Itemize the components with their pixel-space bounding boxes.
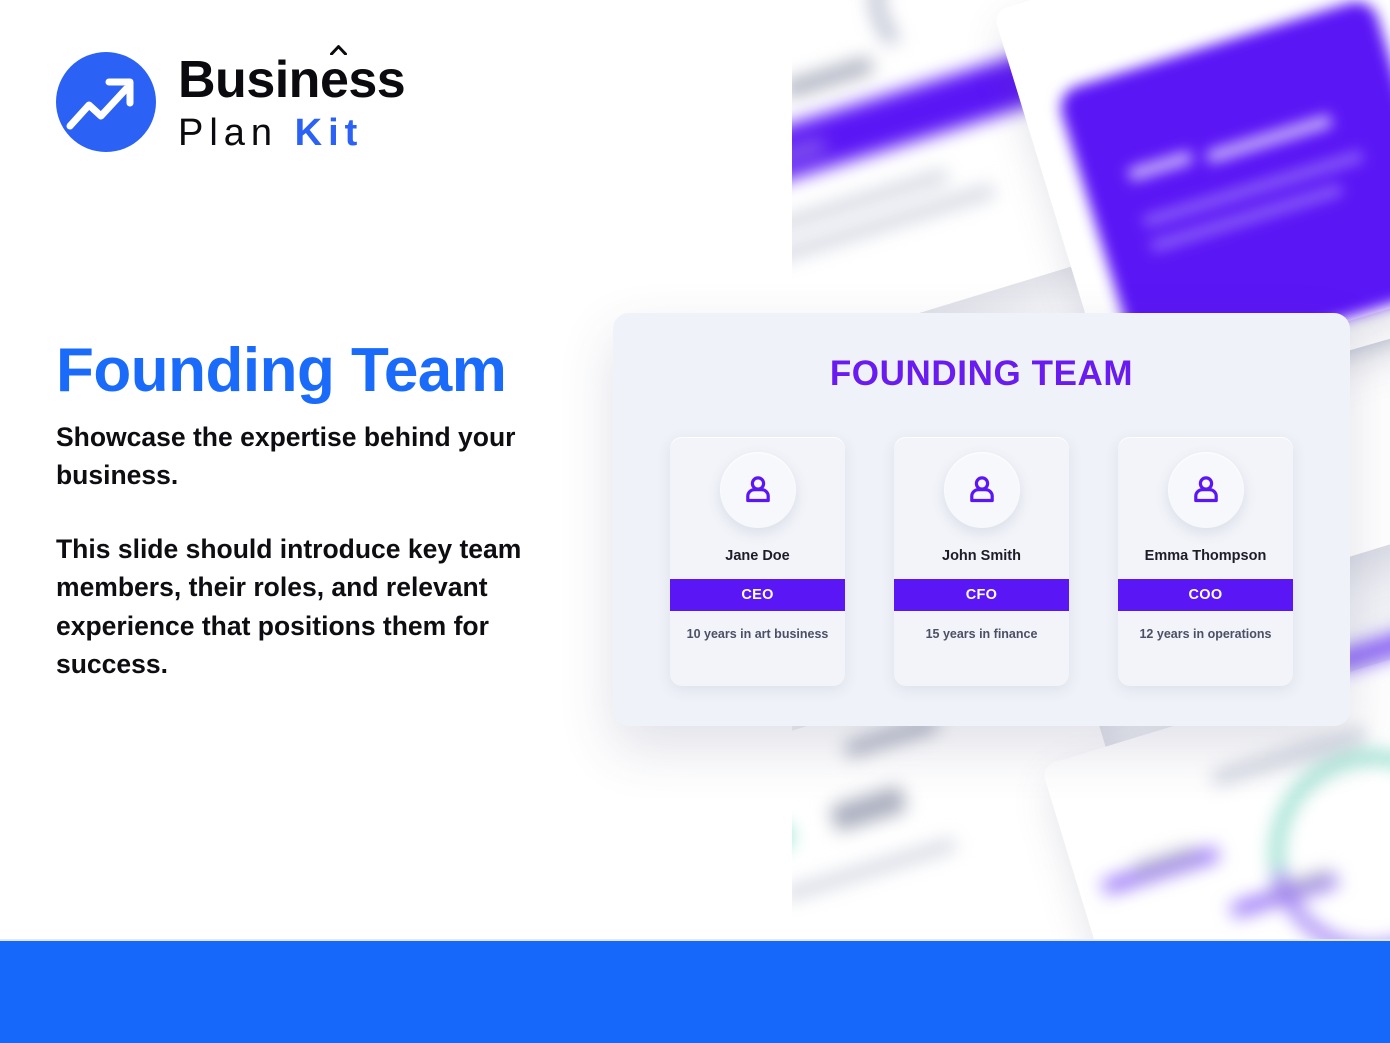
description-paragraph-1: Showcase the expertise behind your busin… <box>56 418 566 494</box>
circumflex-accent-icon <box>330 45 347 55</box>
member-role-badge: CEO <box>670 579 845 611</box>
brand-line-business: Business <box>178 54 405 106</box>
team-member-card[interactable]: John Smith CFO 15 years in finance <box>894 437 1069 686</box>
member-role-badge: CFO <box>894 579 1069 611</box>
slide-preview-title: FOUNDING TEAM <box>613 354 1350 394</box>
description-paragraph-2: This slide should introduce key team mem… <box>56 530 566 683</box>
member-experience: 15 years in finance <box>900 627 1063 641</box>
footer-bar <box>0 941 1390 1043</box>
brand-line-business-text: Business <box>178 51 405 109</box>
avatar <box>944 452 1020 528</box>
brand-logo: Business Plan Kit <box>56 52 405 152</box>
team-member-card[interactable]: Jane Doe CEO 10 years in art business <box>670 437 845 686</box>
brand-word-kit: Kit <box>295 112 364 154</box>
member-experience: 10 years in art business <box>676 627 839 641</box>
member-name: John Smith <box>894 548 1069 564</box>
member-role-badge: COO <box>1118 579 1293 611</box>
slide-preview-card[interactable]: FOUNDING TEAM Jane Doe CEO 10 years in a… <box>613 313 1350 726</box>
page-description: Showcase the expertise behind your busin… <box>56 418 566 683</box>
page-title: Founding Team <box>56 338 506 403</box>
member-name: Emma Thompson <box>1118 548 1293 564</box>
team-member-card[interactable]: Emma Thompson COO 12 years in operations <box>1118 437 1293 686</box>
growth-arrow-circle-icon <box>56 52 156 152</box>
member-experience: 12 years in operations <box>1124 627 1287 641</box>
avatar <box>1168 452 1244 528</box>
brand-word-plan: Plan <box>178 112 278 154</box>
slide-page: Business Plan Kit Founding Team Showcase… <box>0 0 1390 1043</box>
brand-wordmark: Business Plan Kit <box>178 52 405 152</box>
person-icon <box>1189 473 1223 507</box>
person-icon <box>741 473 775 507</box>
brand-line-plan-kit: Plan Kit <box>178 114 405 152</box>
person-icon <box>965 473 999 507</box>
team-member-list: Jane Doe CEO 10 years in art business Jo… <box>670 437 1293 686</box>
member-name: Jane Doe <box>670 548 845 564</box>
avatar <box>720 452 796 528</box>
